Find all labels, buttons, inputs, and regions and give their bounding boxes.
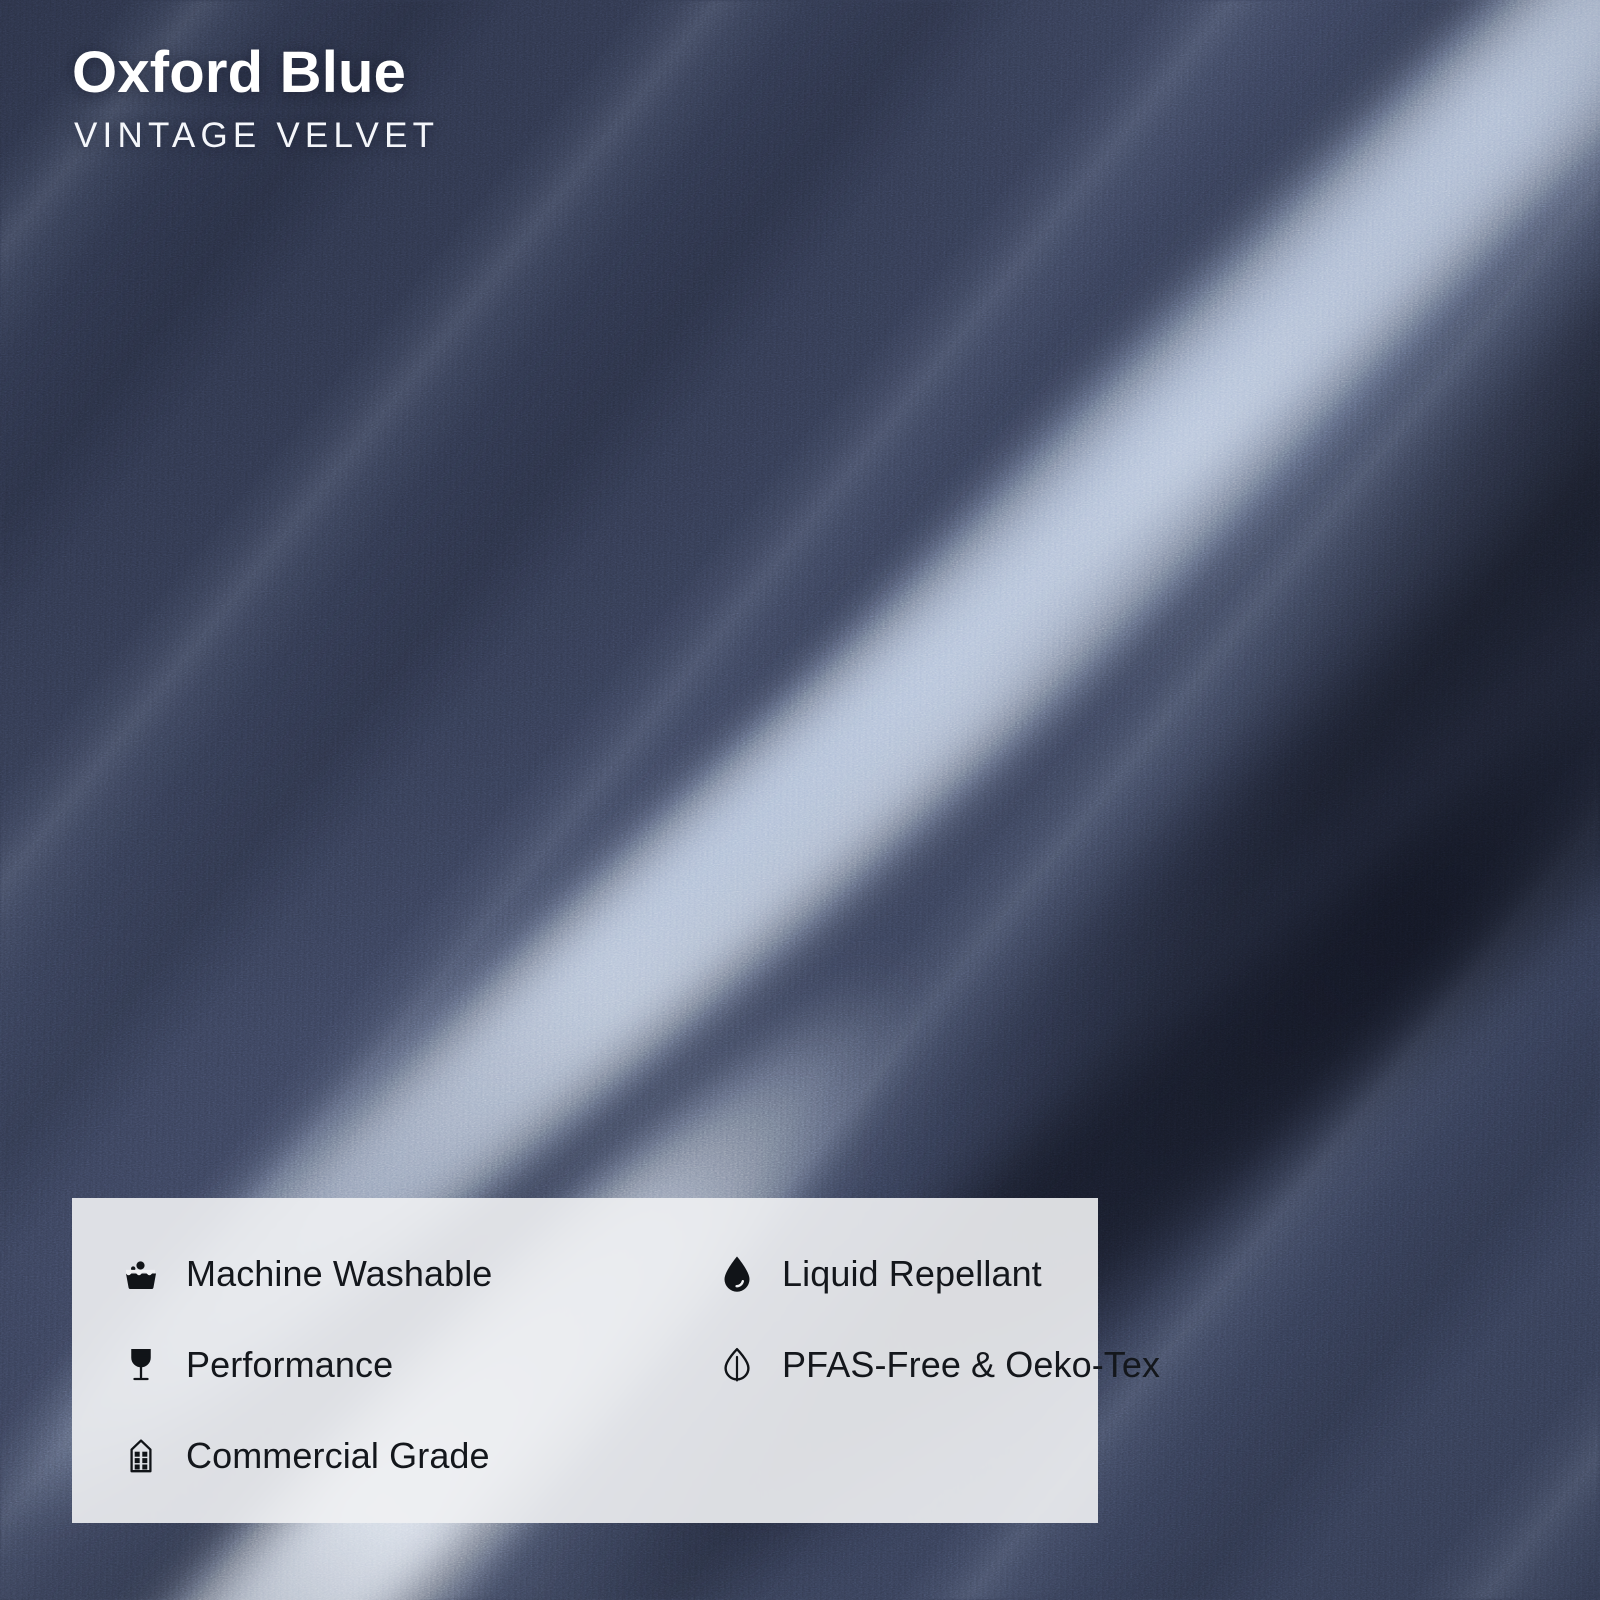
feature-label: Machine Washable <box>186 1256 492 1292</box>
fabric-highlight-band-3 <box>770 0 1600 743</box>
water-drop-icon <box>714 1251 760 1297</box>
feature-panel: Machine Washable Liquid Repellant <box>72 1198 1098 1523</box>
wine-glass-icon <box>118 1342 164 1388</box>
feature-machine-washable: Machine Washable <box>72 1228 668 1319</box>
fabric-trough-2 <box>812 0 1600 1256</box>
feature-commercial-grade: Commercial Grade <box>72 1410 668 1501</box>
fabric-trough-3 <box>1122 0 1600 816</box>
page-title: Oxford Blue <box>72 44 439 102</box>
product-swatch-image: Oxford Blue VINTAGE VELVET Machine Washa… <box>0 0 1600 1600</box>
feature-pfas-free-oeko-tex: PFAS-Free & Oeko-Tex <box>668 1319 1160 1410</box>
fabric-highlight-band-2 <box>412 0 1600 1123</box>
feature-label: Liquid Repellant <box>782 1256 1042 1292</box>
product-header: Oxford Blue VINTAGE VELVET <box>72 44 439 153</box>
feature-label: Performance <box>186 1347 393 1383</box>
product-subtitle: VINTAGE VELVET <box>74 118 439 153</box>
feature-performance: Performance <box>72 1319 668 1410</box>
feature-liquid-repellant: Liquid Repellant <box>668 1228 1160 1319</box>
feature-label: PFAS-Free & Oeko-Tex <box>782 1347 1160 1383</box>
leaf-icon <box>714 1342 760 1388</box>
building-icon <box>118 1433 164 1479</box>
feature-label: Commercial Grade <box>186 1438 490 1474</box>
wash-tub-icon <box>118 1251 164 1297</box>
